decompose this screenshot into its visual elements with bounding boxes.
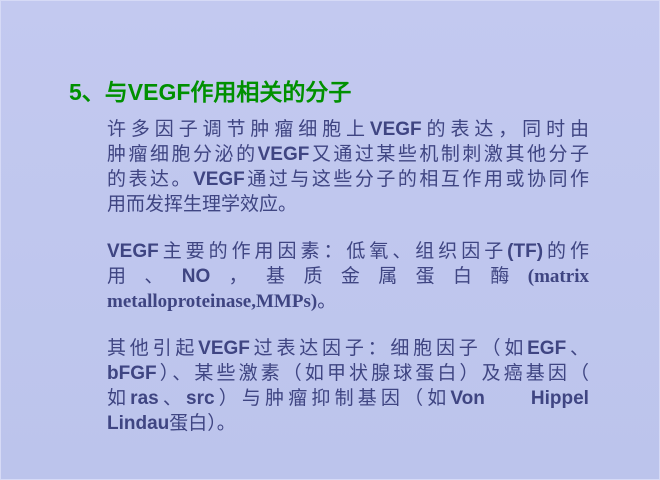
body-text: 用而发挥生理学效应。 <box>107 193 297 215</box>
text-line: 用、NO，基质金属蛋白酶(matrix <box>69 264 589 289</box>
title-text-after: 作用相关的分子 <box>190 79 351 106</box>
emphasis-term: EGF <box>527 338 566 359</box>
body-text: 、 <box>566 337 589 359</box>
emphasis-term: VEGF <box>370 119 422 140</box>
paragraph-2: VEGF主要的作用因素：低氧、组织因子(TF)的作用、NO，基质金属蛋白酶(ma… <box>69 239 589 314</box>
emphasis-term: VEGF <box>193 169 245 190</box>
body-text: 又通过某些机制刺激其他分子 <box>309 143 589 165</box>
emphasis-term: bFGF <box>107 363 157 384</box>
body-text: 。 <box>317 290 336 312</box>
emphasis-term: VEGF <box>258 144 310 165</box>
text-line: Lindau蛋白）。 <box>69 411 589 436</box>
body-text: ）与肿瘤抑制基因（如 <box>215 387 451 409</box>
emphasis-term: NO <box>182 266 211 287</box>
emphasis-term: Hippel <box>531 388 589 409</box>
emphasis-term: Von <box>450 388 484 409</box>
text-line: 如ras、src）与肿瘤抑制基因（如VonHippel <box>69 386 589 411</box>
text-line: VEGF主要的作用因素：低氧、组织因子(TF)的作 <box>69 239 589 264</box>
text-line: 许多因子调节肿瘤细胞上VEGF的表达，同时由 <box>69 117 589 142</box>
text-line: 肿瘤细胞分泌的VEGF又通过某些机制刺激其他分子 <box>69 142 589 167</box>
body-text: 肿瘤细胞分泌的 <box>107 143 258 165</box>
emphasis-term: VEGF <box>198 338 250 359</box>
body-text: 许多因子调节肿瘤细胞上 <box>107 118 370 140</box>
body-text: 的表达，同时由 <box>422 118 589 140</box>
text-line: 用而发挥生理学效应。 <box>69 192 589 217</box>
title-acronym: VEGF <box>128 79 191 105</box>
emphasis-term: (TF) <box>507 241 543 262</box>
body-text: 其他引起 <box>107 337 198 359</box>
body-text: 如 <box>107 387 130 409</box>
body-text: 的表达。 <box>107 168 193 190</box>
emphasis-term: VEGF <box>107 241 159 262</box>
body-text: 用、 <box>107 265 182 287</box>
title-number: 5 <box>69 79 82 105</box>
text-line: bFGF）、某些激素（如甲状腺球蛋白）及癌基因（ <box>69 361 589 386</box>
paragraph-3: 其他引起VEGF过表达因子：细胞因子（如EGF、bFGF）、某些激素（如甲状腺球… <box>69 336 589 436</box>
text-line: 的表达。VEGF通过与这些分子的相互作用或协同作 <box>69 167 589 192</box>
body-text: ，基质金属蛋白酶 <box>210 265 528 287</box>
emphasis-term: src <box>186 388 215 409</box>
emphasis-term: (matrix <box>528 266 589 287</box>
emphasis-term: ras <box>130 388 159 409</box>
page-title: 5、与VEGF作用相关的分子 <box>69 77 609 107</box>
body-text: 、 <box>159 387 186 409</box>
body-text: 的作 <box>543 240 589 262</box>
paragraph-1: 许多因子调节肿瘤细胞上VEGF的表达，同时由肿瘤细胞分泌的VEGF又通过某些机制… <box>69 117 589 217</box>
emphasis-term: Lindau <box>107 413 169 434</box>
slide-canvas: 5、与VEGF作用相关的分子 许多因子调节肿瘤细胞上VEGF的表达，同时由肿瘤细… <box>0 0 660 480</box>
title-text-before: 与 <box>105 79 128 106</box>
body-text: 蛋白）。 <box>169 412 236 434</box>
body-text: 过表达因子：细胞因子（如 <box>250 337 527 359</box>
text-line: 其他引起VEGF过表达因子：细胞因子（如EGF、 <box>69 336 589 361</box>
body-text: ）、某些激素（如甲状腺球蛋白）及癌基因（ <box>157 362 589 384</box>
body-text: 通过与这些分子的相互作用或协同作 <box>245 168 589 190</box>
slide-body: 许多因子调节肿瘤细胞上VEGF的表达，同时由肿瘤细胞分泌的VEGF又通过某些机制… <box>69 117 589 436</box>
emphasis-term: metalloproteinase,MMPs) <box>107 291 317 312</box>
text-line: metalloproteinase,MMPs)。 <box>69 289 589 314</box>
body-text: 主要的作用因素：低氧、组织因子 <box>159 240 507 262</box>
title-punctuation: 、 <box>82 79 105 106</box>
